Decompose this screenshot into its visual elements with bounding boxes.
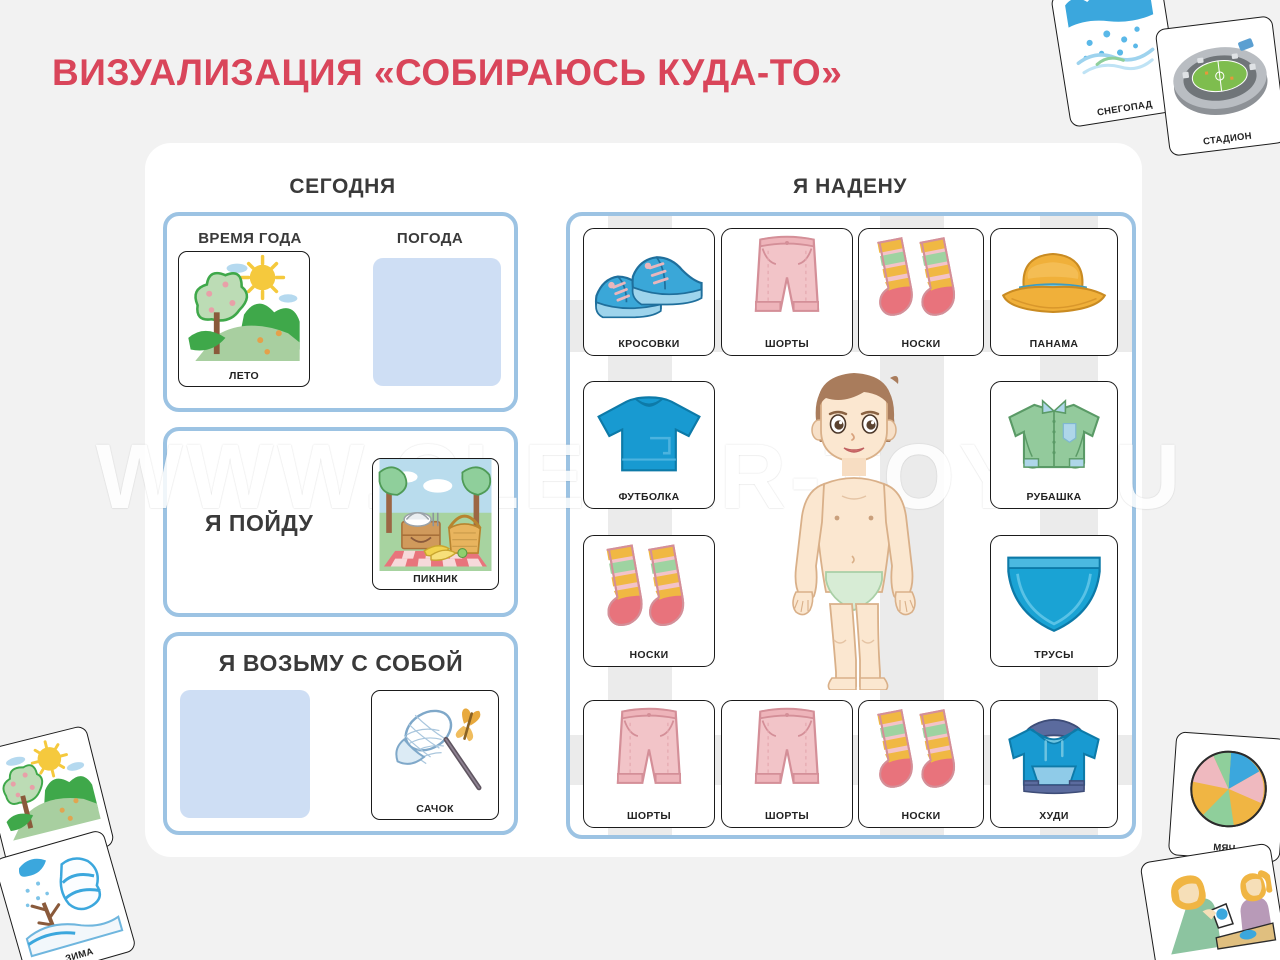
- snowfall-icon: [1056, 0, 1174, 106]
- weather-slot[interactable]: [373, 258, 501, 386]
- wearing-card-caption: ТРУСЫ: [991, 649, 1117, 661]
- wearing-card-socks-left[interactable]: НОСКИ: [583, 535, 715, 667]
- wearing-card-caption: НОСКИ: [859, 338, 983, 350]
- today-heading: СЕГОДНЯ: [165, 175, 520, 199]
- wearing-heading: Я НАДЕНУ: [565, 175, 1135, 199]
- wearing-card-panama[interactable]: ПАНАМА: [990, 228, 1118, 356]
- stadium-icon: [1160, 21, 1280, 135]
- tshirt-icon: [590, 386, 708, 486]
- taking-card-caption: САЧОК: [372, 803, 498, 819]
- loose-card-stadium[interactable]: СТАДИОН: [1155, 15, 1280, 156]
- wearing-card-socks-top[interactable]: НОСКИ: [858, 228, 984, 356]
- wearing-card-briefs[interactable]: ТРУСЫ: [990, 535, 1118, 667]
- briefs-icon: [997, 540, 1111, 644]
- shirt-icon: [997, 386, 1111, 486]
- beach-ball-icon: [1174, 737, 1280, 842]
- season-label: ВРЕМЯ ГОДА: [175, 230, 325, 247]
- wearing-card-caption: ХУДИ: [991, 810, 1117, 822]
- wearing-card-caption: НОСКИ: [584, 649, 714, 661]
- wearing-card-caption: ФУТБОЛКА: [584, 491, 714, 503]
- sneakers-icon: [590, 233, 708, 333]
- page-title: ВИЗУАЛИЗАЦИЯ «СОБИРАЮСЬ КУДА-ТО»: [52, 52, 842, 94]
- boy-figure: [764, 360, 944, 690]
- picnic-scene-icon: [373, 459, 498, 571]
- weather-label: ПОГОДА: [355, 230, 505, 247]
- wearing-card-shorts-b2[interactable]: ШОРТЫ: [721, 700, 853, 828]
- wearing-card-caption: ШОРТЫ: [722, 810, 852, 822]
- wearing-card-shorts-b1[interactable]: ШОРТЫ: [583, 700, 715, 828]
- summer-scene-icon: [179, 252, 309, 368]
- screenshot-root: СНЕГОПАД СТАДИОН: [0, 0, 1280, 960]
- taking-heading: Я ВОЗЬМУ С СОБОЙ: [165, 650, 517, 677]
- wearing-card-caption: ПАНАМА: [991, 338, 1117, 350]
- butterfly-net-icon: [372, 691, 498, 801]
- season-card[interactable]: ЛЕТО: [178, 251, 310, 387]
- children-activity-icon: [1145, 848, 1280, 960]
- wearing-card-hoodie[interactable]: ХУДИ: [990, 700, 1118, 828]
- socks-icon: [865, 705, 977, 805]
- wearing-card-caption: ШОРТЫ: [584, 810, 714, 822]
- going-card-caption: ПИКНИК: [373, 573, 498, 589]
- wearing-card-caption: РУБАШКА: [991, 491, 1117, 503]
- socks-icon: [590, 540, 708, 644]
- shorts-icon: [728, 705, 846, 805]
- wearing-card-shorts-top[interactable]: ШОРТЫ: [721, 228, 853, 356]
- wearing-card-caption: ШОРТЫ: [722, 338, 852, 350]
- loose-card-children-activity[interactable]: [1139, 842, 1280, 960]
- taking-slot[interactable]: [180, 690, 310, 818]
- season-card-caption: ЛЕТО: [179, 370, 309, 386]
- wearing-card-sneakers[interactable]: КРОСОВКИ: [583, 228, 715, 356]
- wearing-card-caption: КРОСОВКИ: [584, 338, 714, 350]
- wearing-card-tshirt[interactable]: ФУТБОЛКА: [583, 381, 715, 509]
- shorts-icon: [728, 233, 846, 333]
- going-heading: Я ПОЙДУ: [205, 510, 313, 537]
- shorts-icon: [590, 705, 708, 805]
- taking-card[interactable]: САЧОК: [371, 690, 499, 820]
- sun-hat-icon: [997, 233, 1111, 333]
- hoodie-icon: [997, 705, 1111, 805]
- going-card[interactable]: ПИКНИК: [372, 458, 499, 590]
- wearing-card-shirt[interactable]: РУБАШКА: [990, 381, 1118, 509]
- wearing-card-socks-bottom[interactable]: НОСКИ: [858, 700, 984, 828]
- wearing-card-caption: НОСКИ: [859, 810, 983, 822]
- socks-icon: [865, 233, 977, 333]
